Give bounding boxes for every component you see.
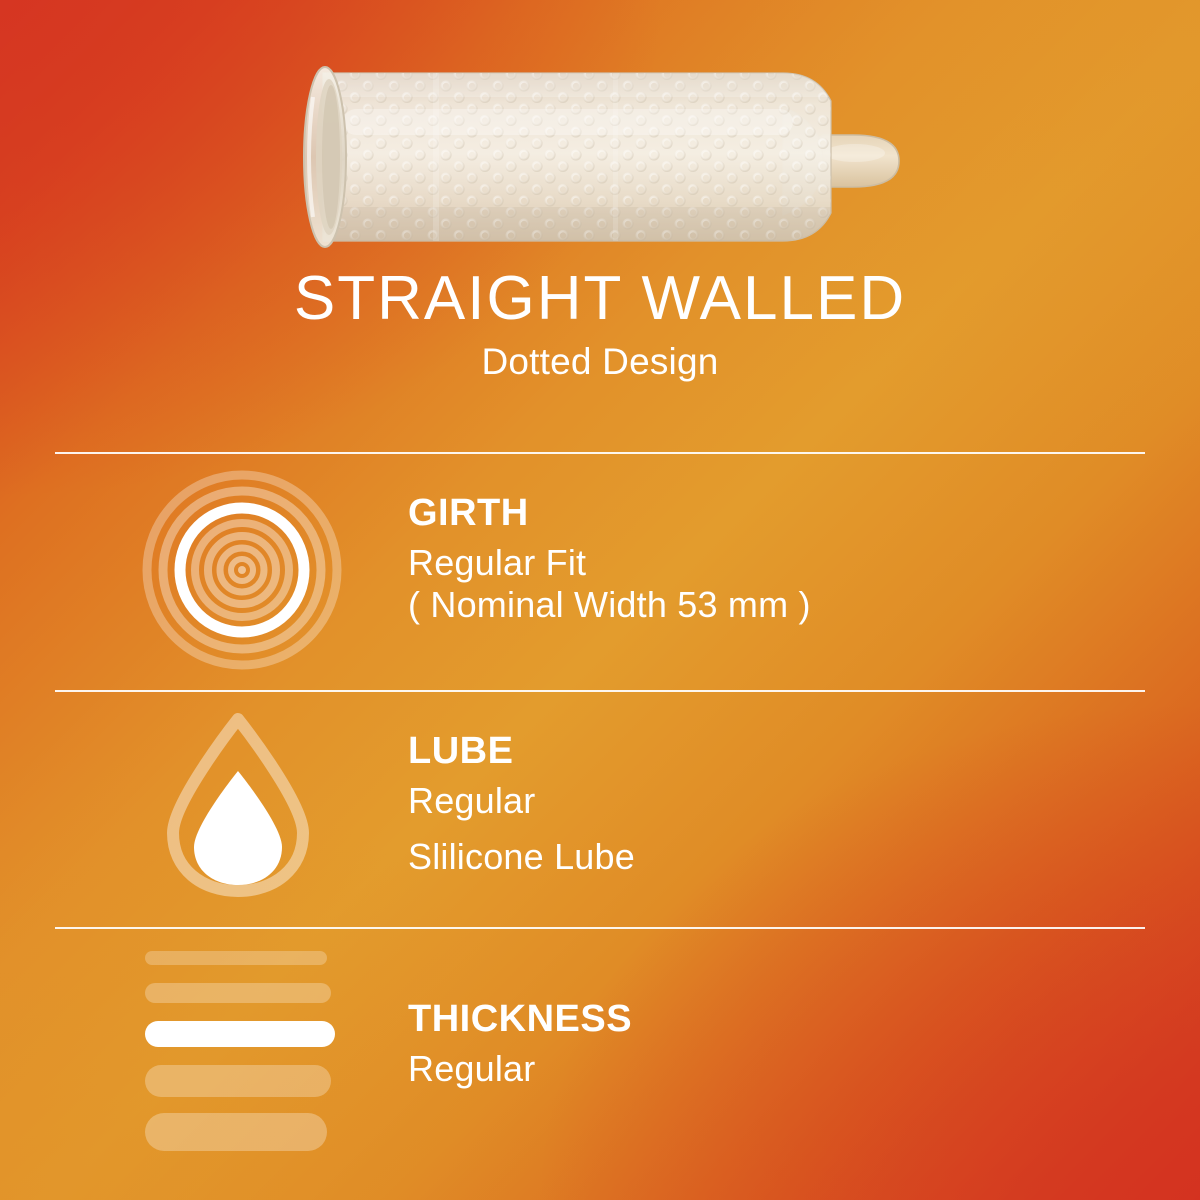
open-ring [304,67,346,247]
thickness-bar-5 [145,1113,327,1151]
spec-title-girth: GIRTH [408,494,1168,532]
thickness-text-cell: THICKNESS Regular [408,1000,1168,1090]
spec-row-girth: GIRTH Regular Fit ( Nominal Width 53 mm … [0,470,1200,680]
spec-row-lube: LUBE Regular Slilicone Lube [0,705,1200,910]
spec-title-thickness: THICKNESS [408,1000,1168,1038]
thickness-bar-4 [145,1065,331,1097]
product-image [283,57,923,257]
divider-3 [55,927,1145,929]
girth-icon-cell [135,470,355,680]
spec-line-lube-1: Regular [408,780,1168,822]
stacked-bars-icon [145,945,350,1150]
thickness-bar-3-active [145,1021,335,1047]
spec-line-lube-2: Slilicone Lube [408,836,1168,878]
spec-title-lube: LUBE [408,732,1168,770]
concentric-circles-icon [140,470,345,670]
lube-text-cell: LUBE Regular Slilicone Lube [408,732,1168,878]
product-spec-infographic: STRAIGHT WALLED Dotted Design [0,0,1200,1200]
page-title: STRAIGHT WALLED [0,268,1200,330]
hero-section: STRAIGHT WALLED Dotted Design [0,0,1200,430]
thickness-bar-2 [145,983,331,1003]
title-block: STRAIGHT WALLED Dotted Design [0,268,1200,380]
spec-line-girth-2: ( Nominal Width 53 mm ) [408,584,1168,626]
condom-illustration [283,57,923,257]
lube-icon-cell [135,705,355,910]
thickness-bar-1 [145,951,327,965]
spec-line-thickness-1: Regular [408,1048,1168,1090]
spec-row-thickness: THICKNESS Regular [0,940,1200,1155]
divider-1 [55,452,1145,454]
spec-line-girth-1: Regular Fit [408,542,1168,584]
droplet-icon [163,709,313,899]
divider-2 [55,690,1145,692]
page-subtitle: Dotted Design [0,343,1200,380]
dotted-texture [319,71,839,243]
girth-text-cell: GIRTH Regular Fit ( Nominal Width 53 mm … [408,494,1168,626]
thickness-icon-cell [135,940,355,1155]
